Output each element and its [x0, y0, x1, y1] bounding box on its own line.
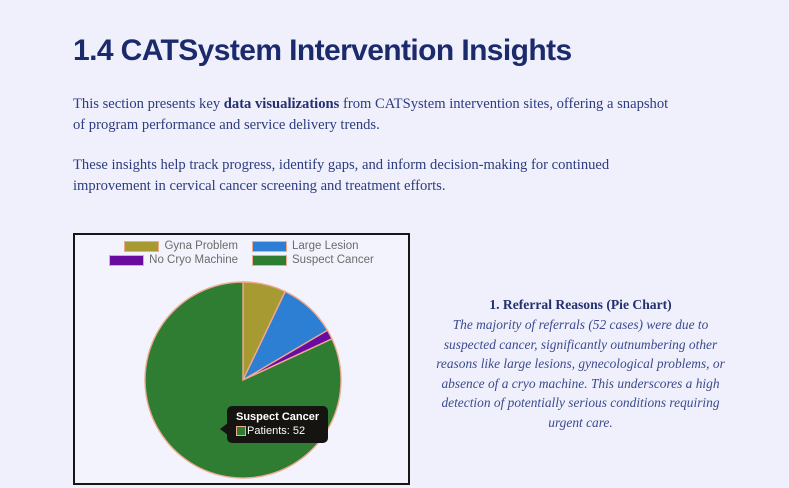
chart-tooltip: Suspect Cancer Patients: 52 — [227, 406, 328, 443]
tooltip-title: Suspect Cancer — [236, 411, 319, 423]
chart-annotation: 1. Referral Reasons (Pie Chart) The majo… — [432, 295, 729, 433]
intro-text-lead: This section presents key — [73, 96, 224, 112]
pie-chart-area — [75, 235, 408, 483]
annotation-body: The majority of referrals (52 cases) wer… — [432, 315, 729, 433]
intro-text-emphasis: data visualizations — [224, 96, 340, 112]
pie-chart-svg[interactable] — [143, 280, 343, 480]
page-title: 1.4 CATSystem Intervention Insights — [73, 34, 572, 68]
tooltip-swatch-icon — [236, 426, 246, 436]
pie-chart-panel[interactable]: Gyna Problem Large Lesion No Cryo Machin… — [73, 233, 410, 485]
annotation-heading: 1. Referral Reasons (Pie Chart) — [432, 295, 729, 314]
tooltip-value: Patients: 52 — [247, 425, 305, 437]
intro-paragraph-2: These insights help track progress, iden… — [73, 155, 673, 197]
tooltip-value-row: Patients: 52 — [236, 425, 319, 437]
intro-paragraph-1: This section presents key data visualiza… — [73, 94, 673, 136]
